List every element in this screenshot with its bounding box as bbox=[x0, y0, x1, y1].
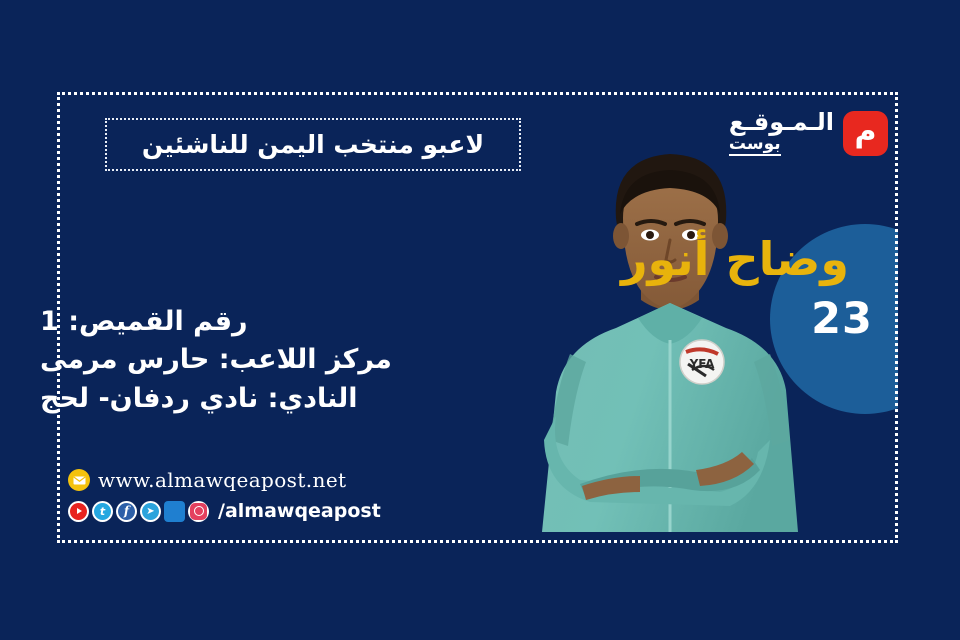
website-url[interactable]: www.almawqeapost.net bbox=[98, 468, 347, 492]
facebook-icon[interactable]: f bbox=[116, 501, 137, 522]
instagram-icon[interactable] bbox=[188, 501, 209, 522]
player-name: وضاح أنور bbox=[0, 232, 960, 286]
youtube-icon[interactable] bbox=[68, 501, 89, 522]
player-card: 23 bbox=[0, 0, 960, 640]
logo-word-top: الـمـوقـع bbox=[729, 110, 834, 134]
section-title-box: لاعبو منتخب اليمن للناشئين bbox=[105, 118, 521, 171]
twitter-icon[interactable]: t bbox=[92, 501, 113, 522]
brand-logo[interactable]: م الـمـوقـع بوست bbox=[729, 110, 888, 156]
player-club: النادي: نادي ردفان- لحج bbox=[40, 380, 470, 418]
footer: www.almawqeapost.net t f ➤ /almawqeapost bbox=[68, 468, 381, 522]
logo-mark-letter: م bbox=[855, 117, 877, 147]
svg-text:YFA: YFA bbox=[689, 357, 716, 371]
social-handle[interactable]: /almawqeapost bbox=[218, 500, 381, 522]
envelope-icon bbox=[68, 469, 90, 491]
website-row[interactable]: www.almawqeapost.net bbox=[68, 468, 381, 492]
player-photo: YFA bbox=[520, 140, 820, 543]
logo-mark-icon: م bbox=[843, 111, 888, 156]
player-position: مركز اللاعب: حارس مرمى bbox=[40, 341, 470, 379]
page-title: لاعبو منتخب اليمن للناشئين bbox=[142, 130, 484, 159]
news-app-icon[interactable] bbox=[164, 501, 185, 522]
player-details: رقم القميص: 1 مركز اللاعب: حارس مرمى الن… bbox=[40, 303, 470, 418]
logo-wordmark: الـمـوقـع بوست bbox=[729, 110, 834, 156]
social-links-row[interactable]: t f ➤ /almawqeapost bbox=[68, 500, 381, 522]
player-shirt-number: رقم القميص: 1 bbox=[40, 303, 470, 341]
player-number: 23 bbox=[811, 294, 873, 344]
telegram-icon[interactable]: ➤ bbox=[140, 501, 161, 522]
logo-word-bottom: بوست bbox=[729, 136, 781, 156]
player-photo-illustration: YFA bbox=[520, 140, 820, 543]
